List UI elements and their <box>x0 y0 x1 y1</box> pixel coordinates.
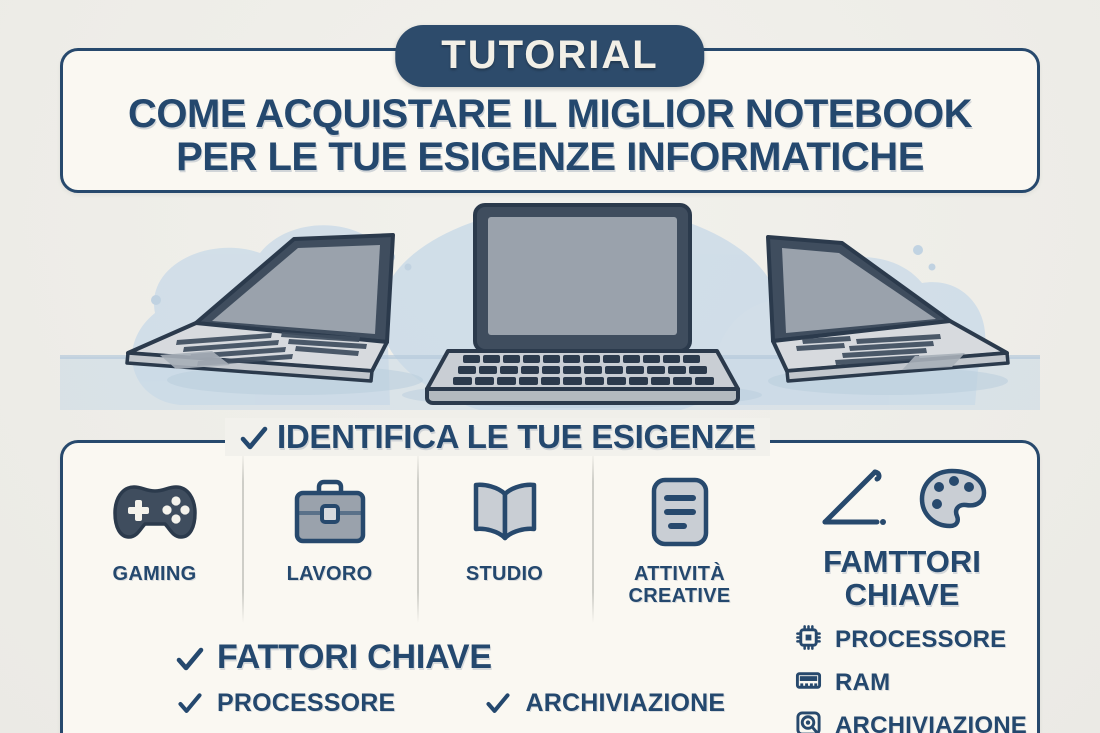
cpu-chip-icon <box>795 624 822 656</box>
page-title: COME ACQUISTARE IL MIGLIOR NOTEBOOK PER … <box>63 93 1037 179</box>
check-icon <box>177 691 203 717</box>
key-factors-right-title-line-1: FAMTTORI <box>823 544 981 579</box>
needs-section-heading: IDENTIFICA LE TUE ESIGENZE <box>225 418 770 456</box>
title-line-2: PER LE TUE ESIGENZE INFORMATICHE <box>63 136 1037 179</box>
key-factors-right: FAMTTORI CHIAVE <box>763 461 1041 733</box>
check-icon <box>175 645 201 671</box>
need-item-gaming[interactable]: GAMING <box>67 465 242 630</box>
document-icon <box>649 473 711 551</box>
need-label-lavoro: LAVORO <box>287 563 373 585</box>
need-item-lavoro[interactable]: LAVORO <box>242 465 417 630</box>
spec-row-archiviazione[interactable]: ARCHIVIAZIONE <box>795 710 1041 733</box>
check-icon <box>485 691 511 717</box>
key-factors-left-title: FATTORI CHIAVE <box>217 638 492 677</box>
needs-section-heading-label: IDENTIFICA LE TUE ESIGENZE <box>277 418 756 456</box>
key-factor-processore-label: PROCESSORE <box>217 689 395 718</box>
briefcase-icon <box>292 473 368 551</box>
key-factors-right-title: FAMTTORI CHIAVE <box>763 545 1041 612</box>
key-factor-processore[interactable]: PROCESSORE <box>177 689 395 718</box>
infographic-page: COME ACQUISTARE IL MIGLIOR NOTEBOOK PER … <box>0 0 1100 733</box>
key-factor-archiviazione[interactable]: ARCHIVIAZIONE <box>485 689 725 718</box>
open-book-icon <box>468 473 542 551</box>
key-factors-right-list: PROCESSORE RAM <box>763 624 1041 733</box>
tutorial-badge: TUTORIAL <box>395 25 704 87</box>
palette-icon <box>917 466 989 537</box>
spec-row-ram[interactable]: RAM <box>795 667 1041 699</box>
need-label-studio: STUDIO <box>466 563 543 585</box>
needs-icon-row: GAMING LAVORO <box>67 465 767 630</box>
ram-stick-icon <box>795 667 822 699</box>
spec-label-processore: PROCESSORE <box>835 626 1006 654</box>
needs-panel: GAMING LAVORO <box>60 440 1040 733</box>
need-item-studio[interactable]: STUDIO <box>417 465 592 630</box>
key-factors-left: FATTORI CHIAVE PROCESSORE ARCHIVIAZIONE <box>175 638 775 718</box>
spec-label-archiviazione: ARCHIVIAZIONE <box>835 712 1027 733</box>
spec-label-ram: RAM <box>835 669 890 697</box>
title-line-1: COME ACQUISTARE IL MIGLIOR NOTEBOOK <box>128 92 972 136</box>
hard-disk-icon <box>795 710 822 733</box>
check-icon <box>239 424 265 450</box>
key-factors-right-icons <box>763 461 1041 541</box>
gamepad-icon <box>112 473 198 551</box>
need-label-gaming: GAMING <box>112 563 196 585</box>
key-factors-right-title-line-2: CHIAVE <box>845 577 960 612</box>
spec-row-processore[interactable]: PROCESSORE <box>795 624 1041 656</box>
key-factors-left-title-row: FATTORI CHIAVE <box>175 638 775 677</box>
key-factors-left-items: PROCESSORE ARCHIVIAZIONE <box>175 689 775 718</box>
key-factor-archiviazione-label: ARCHIVIAZIONE <box>525 689 725 718</box>
angle-ruler-icon <box>815 464 893 539</box>
three-laptops-illustration <box>60 195 1040 410</box>
need-item-attivita-creative[interactable]: ATTIVITÀ CREATIVE <box>592 465 767 630</box>
need-label-attivita-creative: ATTIVITÀ CREATIVE <box>592 563 767 608</box>
